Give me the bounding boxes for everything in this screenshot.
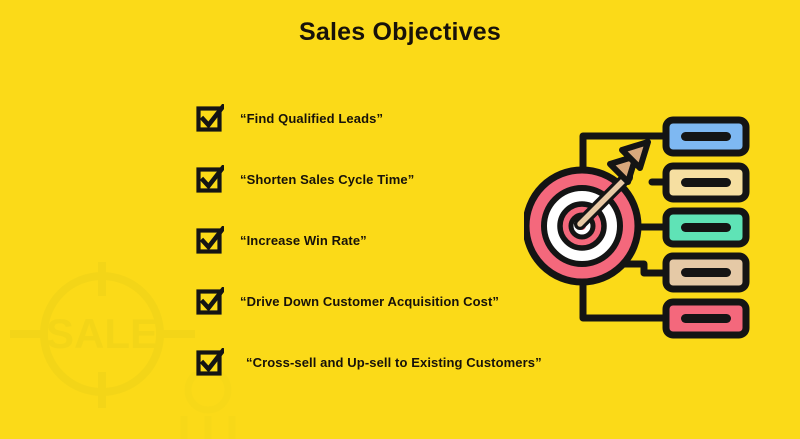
checkbox-checked-icon[interactable] — [196, 226, 224, 254]
callout-box-1 — [666, 120, 746, 153]
sale-watermark-text: SALE — [46, 310, 158, 357]
target-diagram — [524, 104, 786, 344]
callout-box-5 — [666, 302, 746, 335]
list-item-label: “Cross-sell and Up-sell to Existing Cust… — [246, 355, 542, 370]
list-item-label: “Increase Win Rate” — [240, 233, 367, 248]
callout-box-2 — [666, 166, 746, 199]
checkbox-checked-icon[interactable] — [196, 348, 224, 376]
callout-box-4 — [666, 256, 746, 289]
checkbox-checked-icon[interactable] — [196, 104, 224, 132]
checkbox-checked-icon[interactable] — [196, 287, 224, 315]
sale-watermark: SALE — [10, 262, 195, 412]
list-item-label: “Drive Down Customer Acquisition Cost” — [240, 294, 499, 309]
list-item[interactable]: “Cross-sell and Up-sell to Existing Cust… — [196, 348, 616, 409]
list-item-label: “Find Qualified Leads” — [240, 111, 383, 126]
page-title: Sales Objectives — [0, 18, 800, 47]
list-item-label: “Shorten Sales Cycle Time” — [240, 172, 414, 187]
slide-canvas: SALE Sales Objectives “Find Qualified Le… — [0, 0, 800, 439]
checkbox-checked-icon[interactable] — [196, 165, 224, 193]
callout-box-3 — [666, 211, 746, 244]
